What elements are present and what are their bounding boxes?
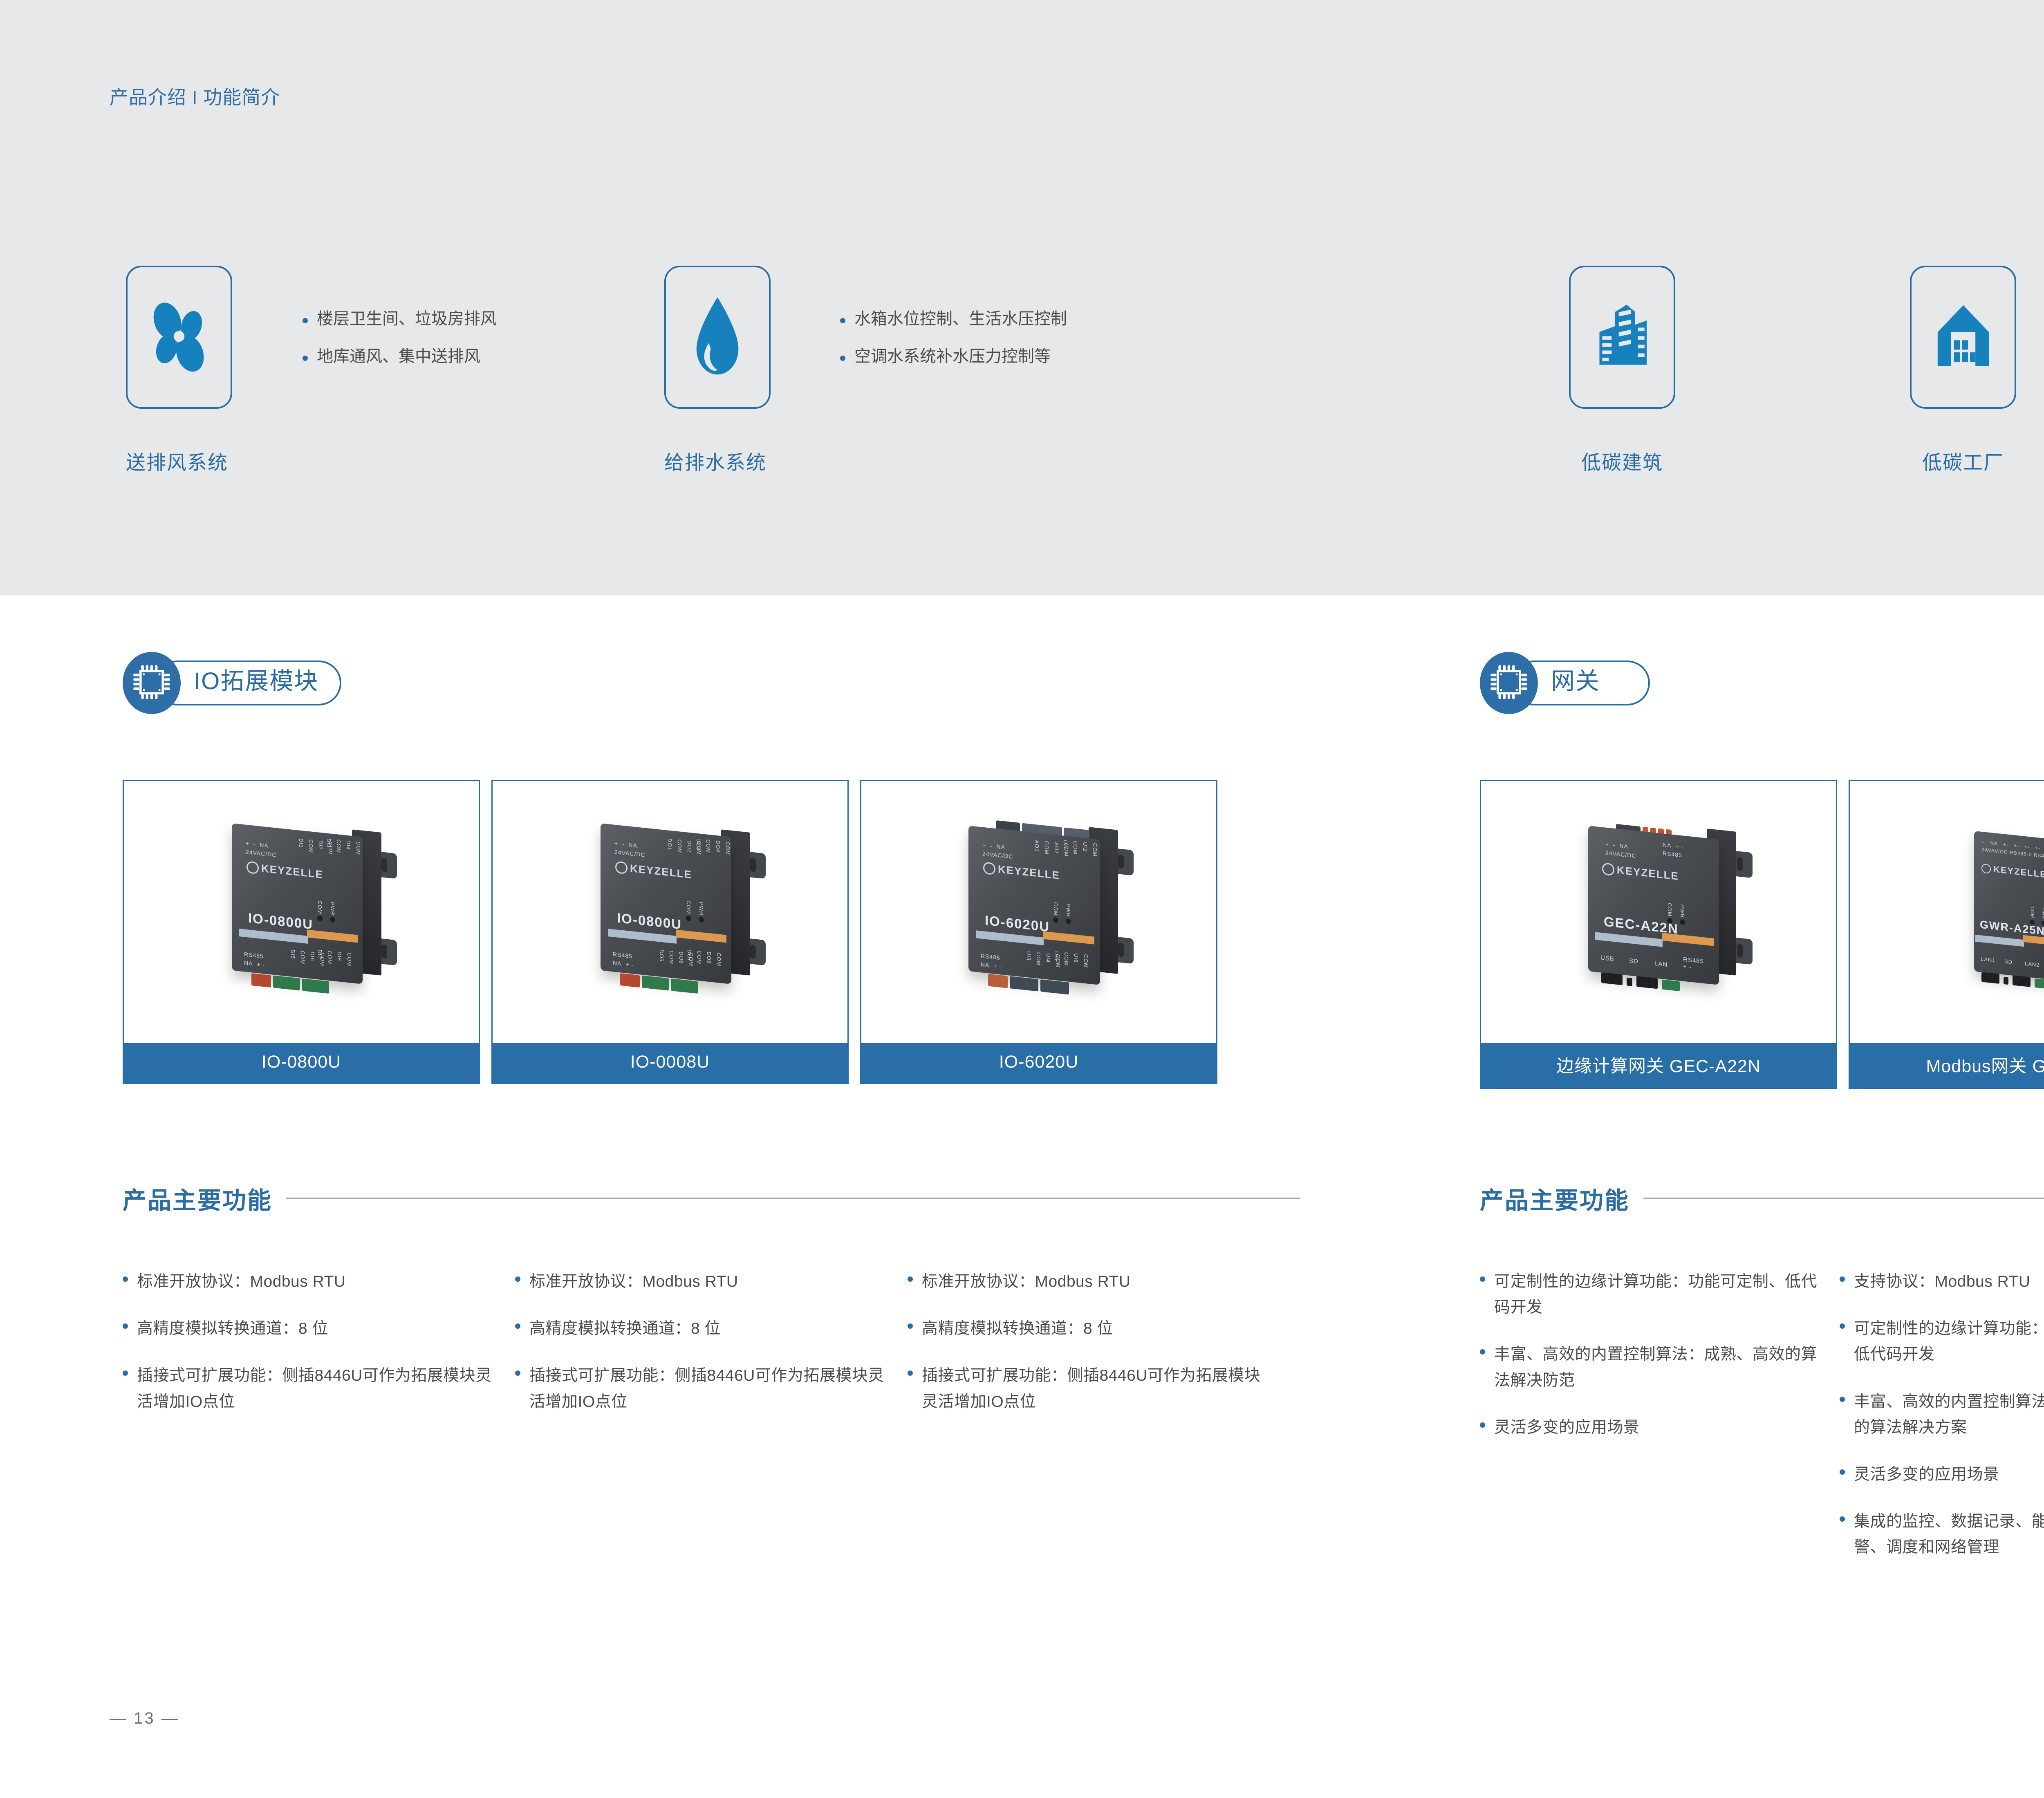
features-io: 产品主要功能 标准开放协议：Modbus RTU 高精度模拟转换通道：8 位 插… xyxy=(123,1181,1300,1436)
lowcarbon-frame xyxy=(1910,266,2016,409)
product-photo-gec-a22n: + - NA24VAC/DC NA + -RS485 KEYZELLE GEC-… xyxy=(1481,781,1836,1043)
feature-text: 标准开放协议：Modbus RTU xyxy=(137,1269,346,1294)
product-card[interactable]: + - NA24VAC/DC DI1COMDI2COM DI3COMDI4COM… xyxy=(123,780,480,1084)
list-item: 丰富、高效的内置控制算法：成熟、高效的算法解决方案 xyxy=(1840,1389,2044,1440)
product-card-row-gateway: + - NA24VAC/DC NA + -RS485 KEYZELLE GEC-… xyxy=(1480,780,2044,1089)
product-label: 边缘计算网关 GEC-A22N xyxy=(1481,1043,1836,1088)
bullet-dot xyxy=(123,1323,128,1329)
list-item: 高精度模拟转换通道：8 位 xyxy=(515,1316,888,1341)
scenario-caption: 送排风系统 xyxy=(126,446,232,475)
scenario-caption: 给排水系统 xyxy=(664,446,771,475)
features-title: 产品主要功能 xyxy=(1480,1181,1629,1216)
bullet-text: 地库通风、集中送排风 xyxy=(317,348,480,365)
bullet-dot xyxy=(1840,1516,1845,1522)
bullet-text: 楼层卫生间、垃圾房排风 xyxy=(317,311,497,327)
feature-text: 标准开放协议：Modbus RTU xyxy=(529,1269,738,1294)
list-item: 集成的监控、数据记录、能耗计量、报警、调度和网络管理 xyxy=(1840,1509,2044,1560)
list-item: 标准开放协议：Modbus RTU xyxy=(123,1269,495,1294)
scenario-bullets-ventilation: 楼层卫生间、垃圾房排风 地库通风、集中送排风 xyxy=(303,311,497,386)
list-item: 高精度模拟转换通道：8 位 xyxy=(123,1316,495,1341)
bullet-dot xyxy=(840,318,845,323)
feature-text: 丰富、高效的内置控制算法：成熟、高效的算法解决方案 xyxy=(1854,1389,2044,1440)
feature-text: 可定制性的边缘计算功能：功能可定制、低代码开发 xyxy=(1854,1316,2044,1367)
bullet-dot xyxy=(908,1323,913,1329)
feature-text: 支持协议：Modbus RTU xyxy=(1854,1269,2031,1294)
bullet-dot xyxy=(303,356,308,361)
product-label: IO-0008U xyxy=(493,1043,847,1083)
list-item: 支持协议：Modbus RTU xyxy=(1840,1269,2044,1294)
scenario-bullets-water: 水箱水位控制、生活水压控制 空调水系统补水压力控制等 xyxy=(840,311,1067,386)
bullet-dot xyxy=(515,1276,520,1282)
features-column: 标准开放协议：Modbus RTU 高精度模拟转换通道：8 位 插接式可扩展功能… xyxy=(515,1269,908,1436)
features-columns: 标准开放协议：Modbus RTU 高精度模拟转换通道：8 位 插接式可扩展功能… xyxy=(123,1269,1300,1436)
lowcarbon-tile-factory: 低碳工厂 xyxy=(1910,266,2016,475)
list-item: 可定制性的边缘计算功能：功能可定制、低代码开发 xyxy=(1480,1269,1820,1320)
bullet-dot xyxy=(123,1370,128,1376)
product-photo-io-6020u: + - NA24VAC/DC AO1COMAO2COM UI1COMUI2COM… xyxy=(861,781,1216,1043)
list-item: 插接式可扩展功能：侧插8446U可作为拓展模块灵活增加IO点位 xyxy=(515,1363,888,1414)
bullet-dot xyxy=(1840,1323,1845,1329)
feature-text: 插接式可扩展功能：侧插8446U可作为拓展模块灵活增加IO点位 xyxy=(137,1363,495,1414)
chip-icon xyxy=(1489,663,1529,704)
list-item: 丰富、高效的内置控制算法：成熟、高效的算法解决防范 xyxy=(1480,1341,1820,1393)
product-photo-io-0008u: + - NA24VAC/DC DO1COMDO2COM DO3COMDO4COM… xyxy=(493,781,847,1043)
list-item: 空调水系统补水压力控制等 xyxy=(840,348,1067,365)
office-building-icon xyxy=(1587,298,1658,376)
bullet-dot xyxy=(1840,1397,1845,1402)
bullet-dot xyxy=(908,1276,913,1282)
product-label: Modbus网关 GWR-A25N xyxy=(1850,1043,2044,1088)
bullet-dot xyxy=(1480,1422,1485,1428)
heading-rule xyxy=(286,1198,1300,1199)
product-card[interactable]: + - NA24VAC/DC DO1COMDO2COM DO3COMDO4COM… xyxy=(491,780,849,1084)
bullet-dot xyxy=(303,318,308,323)
feature-text: 插接式可扩展功能：侧插8446U可作为拓展模块灵活增加IO点位 xyxy=(529,1363,888,1414)
bullet-dot xyxy=(1840,1276,1845,1282)
section-badge-label: IO拓展模块 xyxy=(194,669,318,693)
product-card[interactable]: + - NA24VAC/DC AO1COMAO2COM UI1COMUI2COM… xyxy=(860,780,1217,1084)
fan-icon xyxy=(140,298,218,377)
scenario-frame xyxy=(664,266,771,409)
features-column: 可定制性的边缘计算功能：功能可定制、低代码开发 丰富、高效的内置控制算法：成熟、… xyxy=(1480,1269,1840,1581)
features-column: 标准开放协议：Modbus RTU 高精度模拟转换通道：8 位 插接式可扩展功能… xyxy=(123,1269,515,1436)
bullet-dot xyxy=(908,1370,913,1376)
lowcarbon-frame xyxy=(1569,266,1675,409)
product-label: IO-0800U xyxy=(124,1043,479,1083)
features-heading: 产品主要功能 xyxy=(123,1181,1300,1216)
section-badge-label: 网关 xyxy=(1551,669,1600,693)
lowcarbon-tile-building: 低碳建筑 xyxy=(1569,266,1675,475)
product-photo-gwr-a25n: + - NA +- +- +- +-2AVAV/DC RS485-2 RS485… xyxy=(1850,781,2044,1043)
bullet-dot xyxy=(840,356,845,361)
bullet-dot xyxy=(123,1276,128,1282)
feature-text: 灵活多变的应用场景 xyxy=(1494,1415,1640,1440)
list-item: 水箱水位控制、生活水压控制 xyxy=(840,311,1067,327)
features-title: 产品主要功能 xyxy=(123,1181,272,1216)
feature-text: 丰富、高效的内置控制算法：成熟、高效的算法解决防范 xyxy=(1494,1341,1820,1393)
list-item: 可定制性的边缘计算功能：功能可定制、低代码开发 xyxy=(1840,1316,2044,1367)
heading-rule xyxy=(1643,1198,2044,1199)
scenario-frame xyxy=(126,266,232,409)
feature-text: 灵活多变的应用场景 xyxy=(1854,1462,1999,1487)
bullet-text: 水箱水位控制、生活水压控制 xyxy=(854,311,1067,327)
product-card-row-io: + - NA24VAC/DC DI1COMDI2COM DI3COMDI4COM… xyxy=(123,780,1217,1084)
product-photo-io-0800u: + - NA24VAC/DC DI1COMDI2COM DI3COMDI4COM… xyxy=(124,781,479,1043)
factory-icon xyxy=(1930,298,1997,376)
features-column: 支持协议：Modbus RTU 可定制性的边缘计算功能：功能可定制、低代码开发 … xyxy=(1840,1269,2044,1581)
feature-text: 集成的监控、数据记录、能耗计量、报警、调度和网络管理 xyxy=(1854,1509,2044,1560)
list-item: 楼层卫生间、垃圾房排风 xyxy=(303,311,497,327)
list-item: 高精度模拟转换通道：8 位 xyxy=(908,1316,1268,1341)
lowcarbon-caption: 低碳工厂 xyxy=(1910,446,2016,475)
feature-text: 高精度模拟转换通道：8 位 xyxy=(529,1316,721,1341)
product-card[interactable]: + - NA24VAC/DC NA + -RS485 KEYZELLE GEC-… xyxy=(1480,780,1837,1089)
chip-badge-circle xyxy=(123,652,181,714)
chip-badge-circle xyxy=(1480,652,1538,714)
section-badge-gateway: 网关 xyxy=(1480,652,1650,714)
list-item: 插接式可扩展功能：侧插8446U可作为拓展模块灵活增加IO点位 xyxy=(123,1363,495,1414)
list-item: 灵活多变的应用场景 xyxy=(1480,1415,1820,1440)
bullet-dot xyxy=(1480,1349,1485,1355)
water-drop-icon xyxy=(687,293,748,381)
feature-text: 可定制性的边缘计算功能：功能可定制、低代码开发 xyxy=(1494,1269,1820,1320)
lowcarbon-caption: 低碳建筑 xyxy=(1569,446,1675,475)
bullet-dot xyxy=(1840,1469,1845,1475)
scenario-tile-water: 给排水系统 xyxy=(664,266,771,475)
features-column: 标准开放协议：Modbus RTU 高精度模拟转换通道：8 位 插接式可扩展功能… xyxy=(908,1269,1288,1436)
feature-text: 高精度模拟转换通道：8 位 xyxy=(922,1316,1113,1341)
bullet-dot xyxy=(1480,1276,1485,1282)
chip-icon xyxy=(132,663,171,704)
brochure-spread: 产品介绍 I 功能简介 产品介绍 I 功能简介 送排风系统 楼层卫生 xyxy=(0,0,2044,1798)
list-item: 地库通风、集中送排风 xyxy=(303,348,497,365)
list-item: 标准开放协议：Modbus RTU xyxy=(908,1269,1268,1294)
bullet-dot xyxy=(515,1370,520,1376)
features-columns: 可定制性的边缘计算功能：功能可定制、低代码开发 丰富、高效的内置控制算法：成熟、… xyxy=(1480,1269,2044,1581)
bullet-dot xyxy=(515,1323,520,1329)
section-badge-pill: IO拓展模块 xyxy=(155,661,341,705)
features-heading: 产品主要功能 xyxy=(1480,1181,2044,1216)
scenario-tile-ventilation: 送排风系统 xyxy=(126,266,232,475)
product-card[interactable]: + - NA +- +- +- +-2AVAV/DC RS485-2 RS485… xyxy=(1849,780,2044,1089)
list-item: 插接式可扩展功能：侧插8446U可作为拓展模块灵活增加IO点位 xyxy=(908,1363,1268,1414)
top-gray-band xyxy=(0,0,2044,596)
feature-text: 高精度模拟转换通道：8 位 xyxy=(137,1316,328,1341)
section-badge-io: IO拓展模块 xyxy=(123,652,341,714)
list-item: 灵活多变的应用场景 xyxy=(1840,1462,2044,1487)
product-label: IO-6020U xyxy=(861,1043,1216,1083)
list-item: 标准开放协议：Modbus RTU xyxy=(515,1269,888,1294)
running-head-left: 产品介绍 I 功能简介 xyxy=(110,83,280,110)
bullet-text: 空调水系统补水压力控制等 xyxy=(854,348,1051,365)
features-gateway: 产品主要功能 可定制性的边缘计算功能：功能可定制、低代码开发 丰富、高效的内置控… xyxy=(1480,1181,2044,1581)
feature-text: 标准开放协议：Modbus RTU xyxy=(922,1269,1131,1294)
page-number-left: — 13 — xyxy=(110,1709,179,1728)
feature-text: 插接式可扩展功能：侧插8446U可作为拓展模块灵活增加IO点位 xyxy=(922,1363,1268,1414)
